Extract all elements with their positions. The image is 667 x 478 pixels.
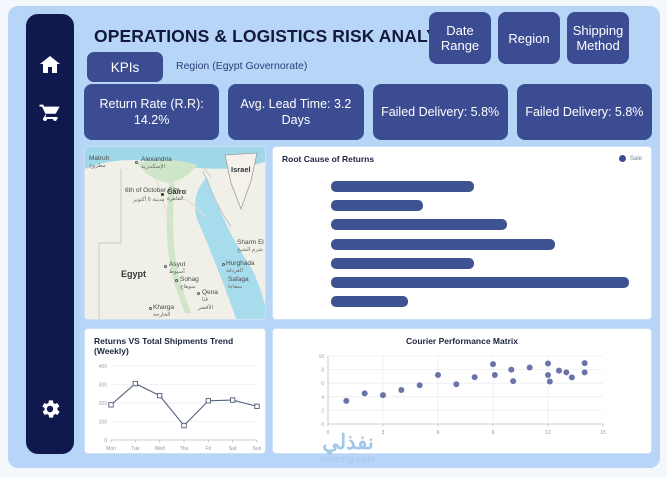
page-title: OPERATIONS & LOGISTICS RISK ANALYSIS [94, 26, 466, 47]
bar-4[interactable] [331, 239, 555, 250]
map-dot-alexandria[interactable] [135, 161, 138, 164]
kpi-card-failed-delivery-2[interactable]: Failed Delivery: 5.8% [517, 84, 652, 140]
scatter-point-2[interactable] [362, 390, 368, 396]
map-label-alexandria-ar: الإسكندرية [141, 164, 165, 170]
returns-trend-panel[interactable]: Returns VS Total Shipments Trend (Weekly… [84, 328, 266, 454]
map-label-asyut: Asyut [169, 261, 185, 268]
scatter-point-16[interactable] [547, 379, 553, 385]
svg-text:100: 100 [99, 420, 108, 426]
map-label-qena-ar: قنا [202, 297, 208, 303]
svg-text:15: 15 [600, 430, 606, 436]
courier-matrix-title: Courier Performance Matrix [273, 329, 651, 346]
map-label-6th-october-ar: مدينة 6 أكتوبر [133, 197, 164, 203]
svg-text:300: 300 [99, 383, 108, 389]
courier-matrix-panel[interactable]: Courier Performance Matrix 0246810036912… [272, 328, 652, 454]
scatter-point-18[interactable] [563, 369, 569, 375]
svg-text:Mon: Mon [106, 446, 116, 452]
kpi-card-return-rate[interactable]: Return Rate (R.R): 14.2% [84, 84, 219, 140]
scatter-point-8[interactable] [472, 374, 478, 380]
map-dot-qena[interactable] [197, 292, 200, 295]
svg-text:8: 8 [321, 368, 324, 374]
kpi-card-failed-delivery-1[interactable]: Failed Delivery: 5.8% [373, 84, 508, 140]
bar-3[interactable] [331, 219, 507, 230]
svg-text:2: 2 [321, 408, 324, 414]
root-cause-chart-title: Root Cause of Returns [273, 147, 651, 164]
svg-text:200: 200 [99, 401, 108, 407]
svg-text:6: 6 [437, 430, 440, 436]
map-dot-kharga[interactable] [149, 307, 152, 310]
map-label-hurghada-ar: الغردقة [226, 268, 243, 274]
map-label-sohag-ar: سوهاج [180, 284, 196, 290]
map-label-matruh: Matruh [89, 155, 109, 162]
svg-text:12: 12 [545, 430, 551, 436]
map-label-safaga: Safaga [228, 276, 249, 283]
bar-1[interactable] [331, 181, 474, 192]
scatter-point-12[interactable] [510, 378, 516, 384]
map-label-matruh-ar: مطروح [89, 163, 106, 169]
svg-text:9: 9 [492, 430, 495, 436]
legend-label-sale: Sale [630, 156, 642, 162]
svg-text:6: 6 [321, 381, 324, 387]
map-dot-hurghada[interactable] [222, 263, 225, 266]
home-icon[interactable] [35, 50, 65, 80]
svg-text:Sat: Sat [229, 446, 237, 452]
region-scope-label: Region (Egypt Governorate) [176, 60, 307, 72]
svg-text:10: 10 [318, 354, 324, 360]
map-label-hurghada: Hurghada [226, 260, 255, 267]
kpi-card-avg-lead-time[interactable]: Avg. Lead Time: 3.2 Days [228, 84, 363, 140]
scatter-point-3[interactable] [380, 392, 386, 398]
map-panel[interactable]: Egypt Israel Alexandria الإسكندرية Cairo… [84, 146, 266, 320]
map-label-alexandria: Alexandria [141, 156, 172, 163]
root-cause-chart-panel[interactable]: Root Cause of Returns Sale [272, 146, 652, 320]
scatter-point-19[interactable] [569, 374, 575, 380]
svg-text:0: 0 [104, 438, 107, 444]
gear-icon[interactable] [35, 394, 65, 424]
map-label-qena: Qena [202, 289, 218, 296]
bar-6[interactable] [331, 277, 629, 288]
scatter-point-10[interactable] [492, 372, 498, 378]
svg-text:0: 0 [321, 422, 324, 428]
scatter-point-5[interactable] [417, 382, 423, 388]
map-label-egypt: Egypt [121, 269, 146, 279]
scatter-point-1[interactable] [343, 398, 349, 404]
map-label-6th-october: 6th of October City [125, 187, 179, 194]
map-label-sharm: Sharm El Sheikh [237, 239, 266, 246]
svg-text:Fri: Fri [205, 446, 211, 452]
map-label-safaga-ar: سفاجا [228, 284, 242, 290]
map-label-kharga: Kharga [153, 304, 174, 311]
filter-date-range[interactable]: Date Range [429, 12, 491, 64]
filter-region[interactable]: Region [498, 12, 560, 64]
svg-text:4: 4 [321, 395, 324, 401]
dashboard-app: OPERATIONS & LOGISTICS RISK ANALYSIS KPI… [0, 0, 667, 478]
map-label-israel: Israel [231, 165, 251, 174]
returns-trend-chart: 0100200300400MonTueWedThuFriSatSun [85, 356, 265, 454]
scatter-point-20[interactable] [582, 360, 588, 366]
sidebar [26, 14, 74, 454]
map-label-asyut-ar: أسيوط [169, 269, 185, 275]
scatter-point-4[interactable] [398, 387, 404, 393]
svg-text:Sun: Sun [253, 446, 262, 452]
map-dot-sohag[interactable] [175, 279, 178, 282]
svg-text:400: 400 [99, 364, 108, 370]
map-label-cairo-ar: القاهرة [167, 196, 183, 202]
scatter-point-15[interactable] [545, 372, 551, 378]
scatter-point-7[interactable] [453, 381, 459, 387]
svg-text:0: 0 [327, 430, 330, 436]
map-label-luxor-ar: الأقصر [198, 305, 213, 311]
map-label-sohag: Sohag [180, 276, 199, 283]
legend-color-swatch [619, 155, 626, 162]
scatter-point-9[interactable] [490, 361, 496, 367]
kpi-row: Return Rate (R.R): 14.2% Avg. Lead Time:… [84, 84, 652, 140]
returns-trend-title: Returns VS Total Shipments Trend (Weekly… [85, 329, 265, 356]
map-label-sharm-ar: شرم الشيخ [237, 247, 263, 253]
scatter-point-6[interactable] [435, 372, 441, 378]
svg-text:Tue: Tue [131, 446, 140, 452]
root-cause-legend: Sale [619, 155, 642, 162]
map-dot-asyut[interactable] [164, 265, 167, 268]
shopping-cart-icon[interactable] [35, 96, 65, 126]
scatter-point-11[interactable] [508, 367, 514, 373]
svg-text:3: 3 [382, 430, 385, 436]
scatter-point-14[interactable] [545, 360, 551, 366]
map-label-kharga-ar: الخارجة [153, 312, 170, 318]
scatter-point-13[interactable] [527, 365, 533, 371]
svg-text:Thu: Thu [180, 446, 189, 452]
bar-2[interactable] [331, 200, 423, 211]
scatter-point-17[interactable] [556, 368, 562, 374]
filter-shipping-method[interactable]: Shipping Method [567, 12, 629, 64]
courier-matrix-chart: 024681003691215 [273, 346, 651, 451]
egypt-map[interactable]: Egypt Israel Alexandria الإسكندرية Cairo… [85, 147, 265, 319]
filter-bar: Date Range Region Shipping Method [429, 12, 629, 64]
scatter-point-21[interactable] [582, 369, 588, 375]
header: OPERATIONS & LOGISTICS RISK ANALYSIS KPI… [84, 12, 652, 78]
svg-text:Wed: Wed [155, 446, 165, 452]
bar-5[interactable] [331, 258, 474, 269]
tab-kpis[interactable]: KPIs [87, 52, 163, 82]
root-cause-bars [331, 173, 629, 315]
bar-7[interactable] [331, 296, 408, 307]
